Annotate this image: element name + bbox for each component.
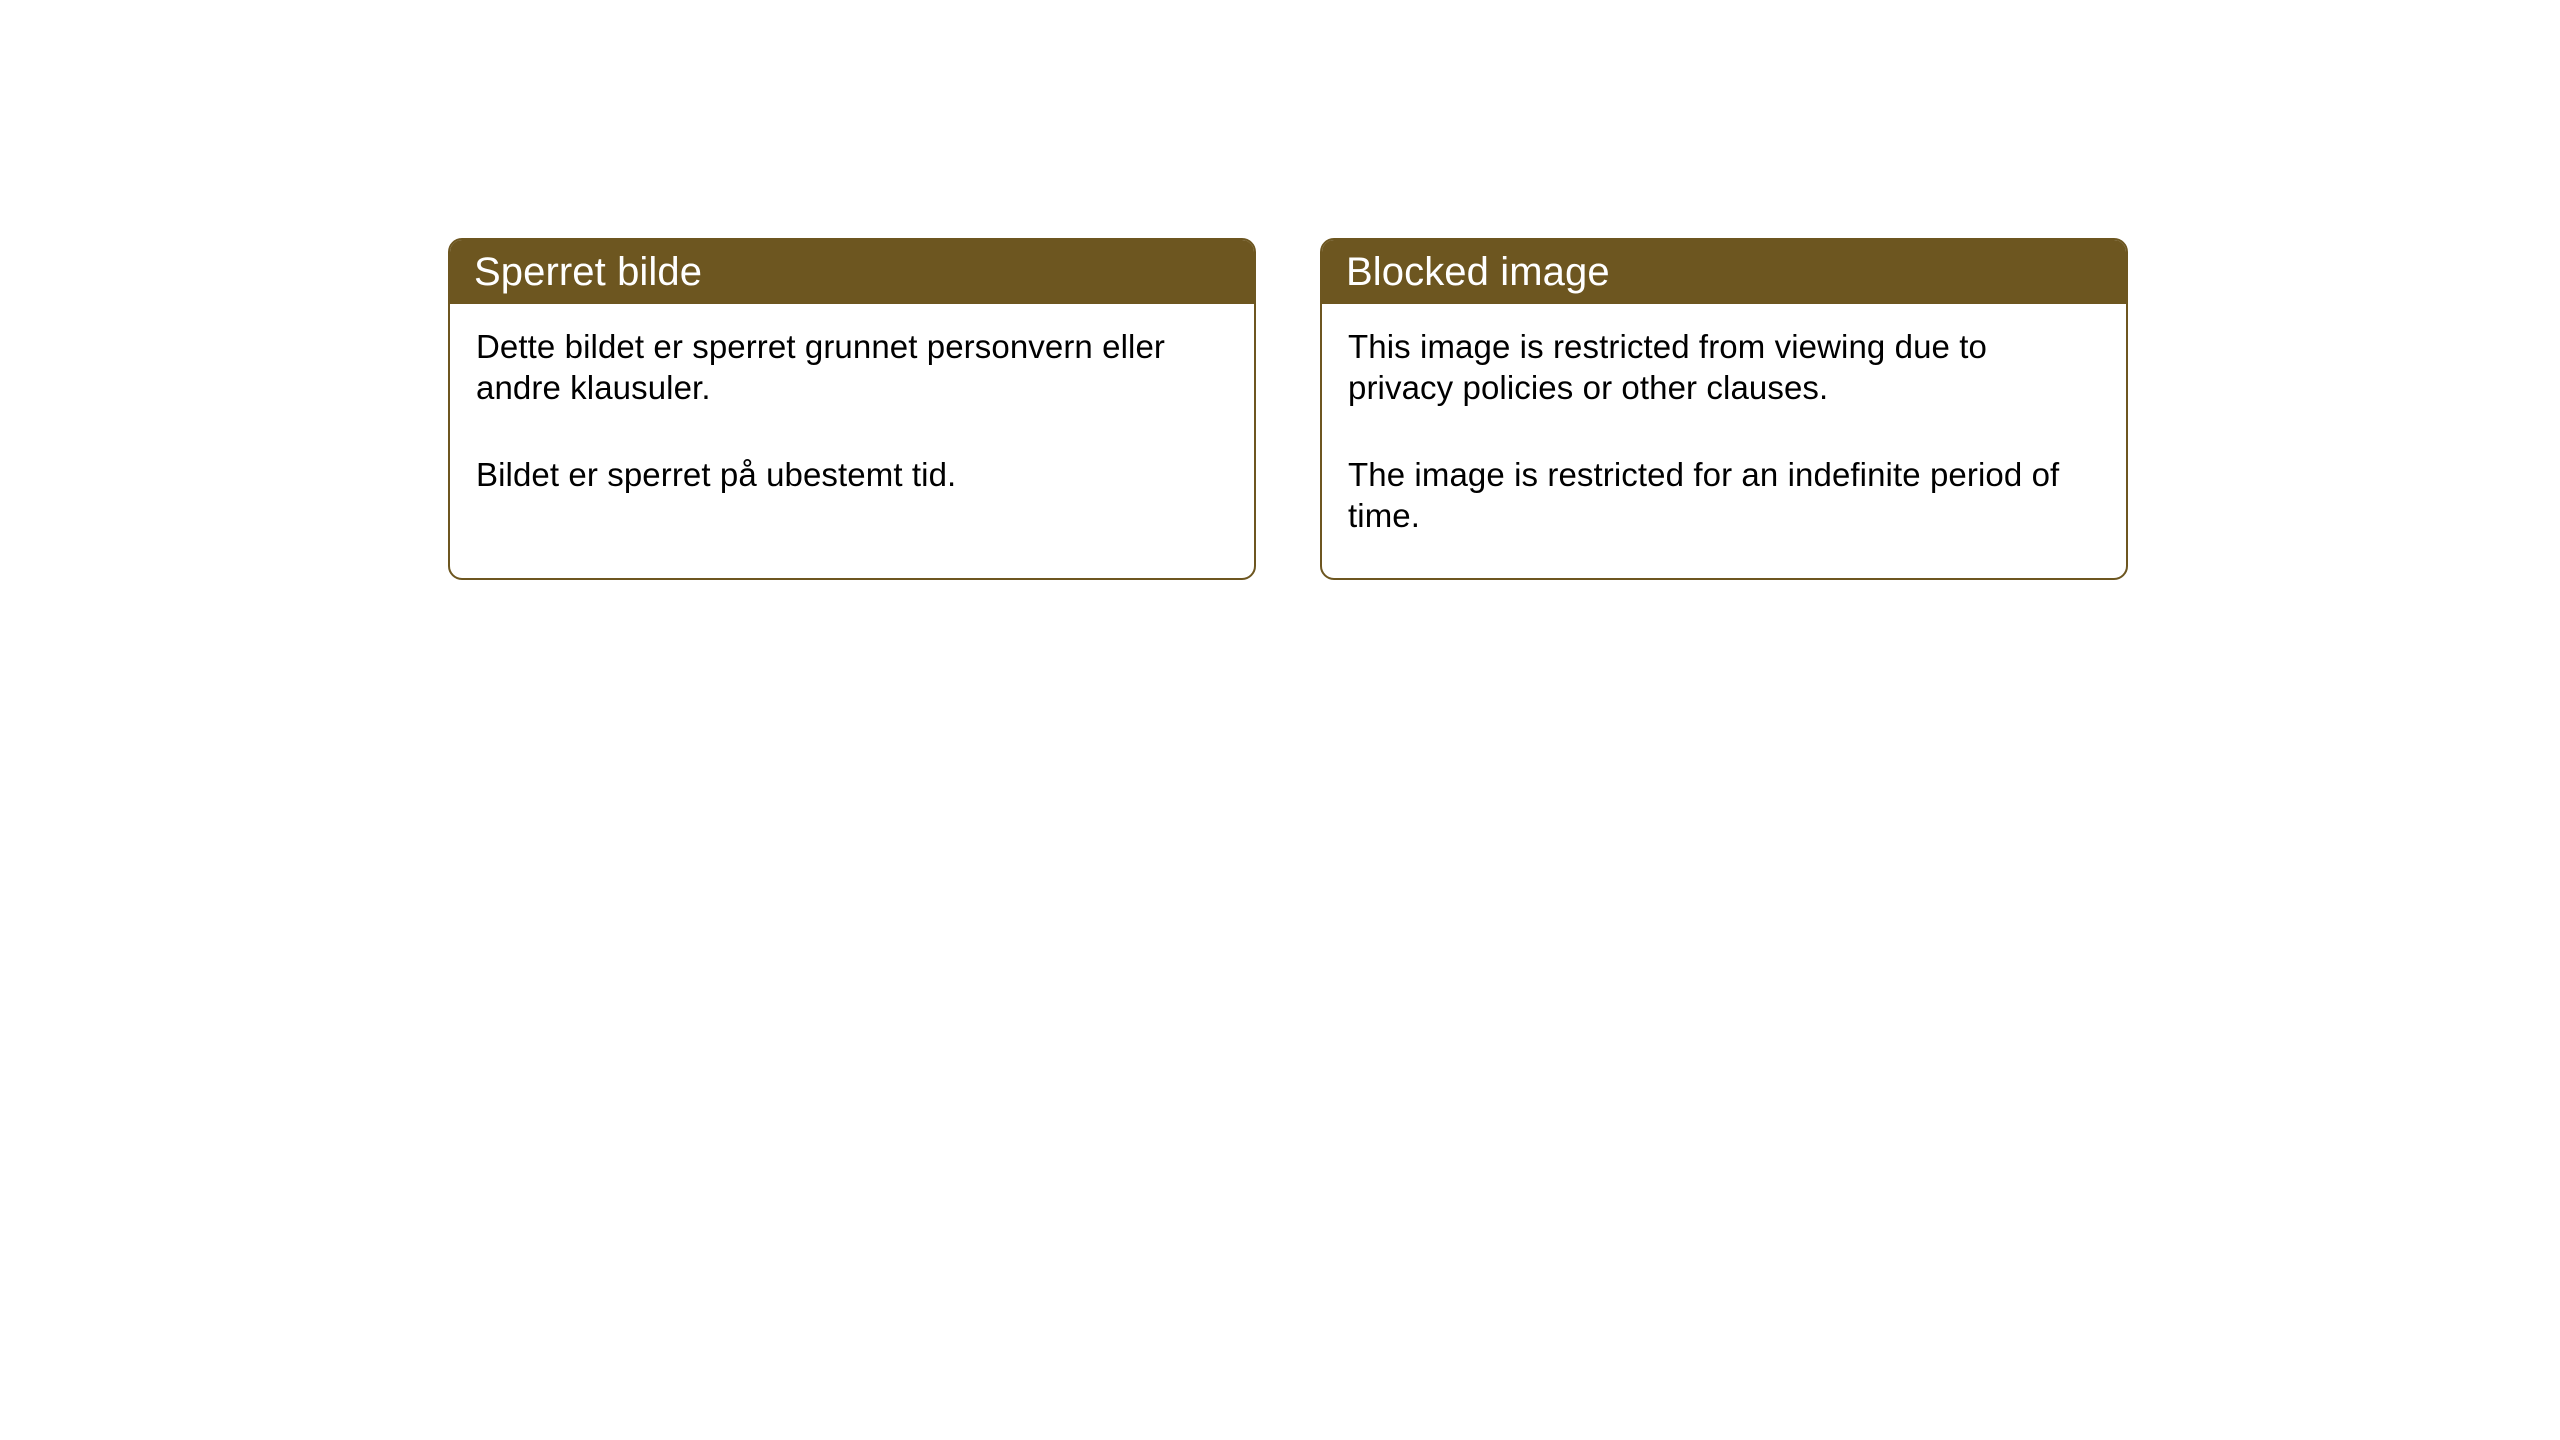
blocked-image-notice-english: Blocked image This image is restricted f…: [1320, 238, 2128, 580]
notice-header-english: Blocked image: [1322, 240, 2126, 304]
notice-paragraph: The image is restricted for an indefinit…: [1348, 454, 2100, 537]
notice-paragraph: Bildet er sperret på ubestemt tid.: [476, 454, 1228, 495]
notice-title-norwegian: Sperret bilde: [474, 252, 702, 292]
notice-header-norwegian: Sperret bilde: [450, 240, 1254, 304]
notice-title-english: Blocked image: [1346, 252, 1610, 292]
page-root: Sperret bilde Dette bildet er sperret gr…: [0, 0, 2560, 1440]
notice-body-norwegian: Dette bildet er sperret grunnet personve…: [450, 304, 1254, 495]
notice-body-english: This image is restricted from viewing du…: [1322, 304, 2126, 536]
notice-paragraph: Dette bildet er sperret grunnet personve…: [476, 326, 1228, 409]
blocked-image-notice-norwegian: Sperret bilde Dette bildet er sperret gr…: [448, 238, 1256, 580]
notice-paragraph: This image is restricted from viewing du…: [1348, 326, 2100, 409]
